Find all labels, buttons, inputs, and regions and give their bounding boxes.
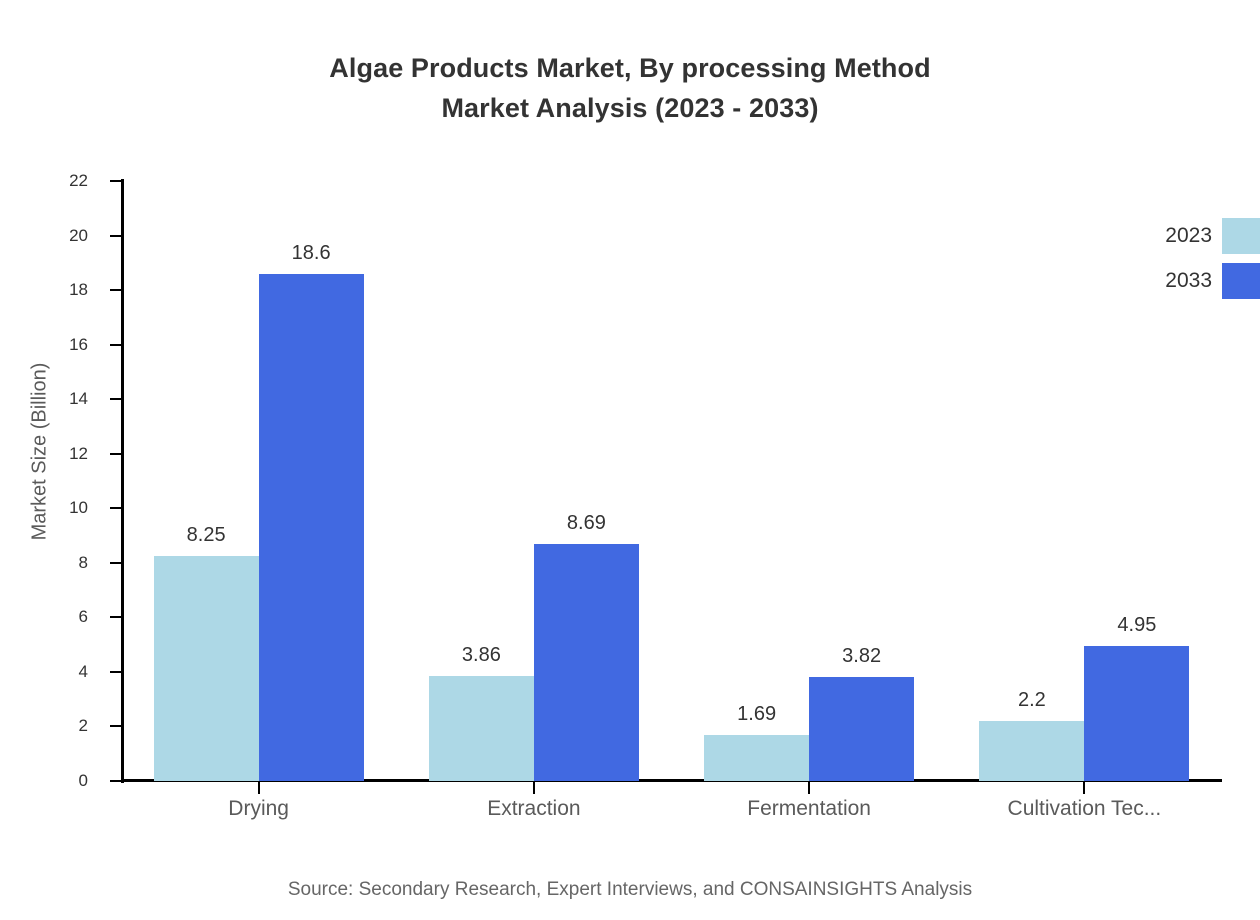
x-axis-category-label: Cultivation Tec...: [934, 796, 1234, 821]
y-axis-tick-label: 8: [28, 554, 88, 571]
y-axis-tick: [110, 289, 121, 291]
bar-value-label: 3.86: [421, 645, 541, 665]
y-axis-tick: [110, 671, 121, 673]
bar-2033-extraction[interactable]: [534, 544, 639, 781]
x-axis-tick: [808, 782, 810, 794]
bar-2033-cultivation-tec[interactable]: [1084, 646, 1189, 781]
y-axis-tick-label: 2: [28, 717, 88, 734]
chart-legend: 20232033: [1130, 210, 1260, 310]
y-axis-tick: [110, 453, 121, 455]
x-axis-tick: [533, 782, 535, 794]
bar-2023-cultivation-tec[interactable]: [979, 721, 1084, 781]
x-axis-tick: [1083, 782, 1085, 794]
bar-value-label: 3.82: [802, 646, 922, 666]
y-axis-tick-label: 4: [28, 663, 88, 680]
y-axis-tick: [110, 562, 121, 564]
y-axis-tick-label: 16: [28, 336, 88, 353]
bar-value-label: 4.95: [1077, 615, 1197, 635]
bar-2033-drying[interactable]: [259, 274, 364, 781]
y-axis-tick-label: 20: [28, 227, 88, 244]
y-axis-tick-label: 0: [28, 772, 88, 789]
bar-value-label: 8.25: [146, 525, 266, 545]
bar-value-label: 8.69: [526, 513, 646, 533]
x-axis-tick: [258, 782, 260, 794]
legend-item-2023[interactable]: 2023: [1130, 218, 1260, 254]
bar-2023-fermentation[interactable]: [704, 735, 809, 781]
y-axis-tick: [110, 398, 121, 400]
y-axis-tick-label: 10: [28, 499, 88, 516]
x-axis-category-label: Fermentation: [659, 796, 959, 821]
bar-2023-extraction[interactable]: [429, 676, 534, 781]
source-note: Source: Secondary Research, Expert Inter…: [0, 879, 1260, 901]
chart-title-line-2: Market Analysis (2023 - 2033): [0, 88, 1260, 128]
y-axis-tick-label: 6: [28, 608, 88, 625]
bar-2023-drying[interactable]: [154, 556, 259, 781]
bar-value-label: 18.6: [251, 243, 371, 263]
legend-label-2023: 2023: [1130, 225, 1212, 246]
y-axis-tick: [110, 344, 121, 346]
y-axis-tick: [110, 725, 121, 727]
y-axis-tick: [110, 616, 121, 618]
y-axis-tick-label: 18: [28, 281, 88, 298]
y-axis-tick: [110, 780, 121, 782]
legend-swatch-2033: [1222, 263, 1260, 299]
page-title: Algae Products Market, By processing Met…: [0, 48, 1260, 128]
x-axis-category-label: Drying: [109, 796, 409, 821]
legend-swatch-2023: [1222, 218, 1260, 254]
bar-value-label: 1.69: [697, 704, 817, 724]
y-axis-tick-label: 12: [28, 445, 88, 462]
y-axis-tick-label: 14: [28, 390, 88, 407]
y-axis-tick: [110, 180, 121, 182]
bar-value-label: 2.2: [972, 690, 1092, 710]
bar-2033-fermentation[interactable]: [809, 677, 914, 781]
y-axis-tick: [110, 507, 121, 509]
y-axis-tick-label: 22: [28, 172, 88, 189]
x-axis-category-label: Extraction: [384, 796, 684, 821]
y-axis-tick: [110, 235, 121, 237]
legend-item-2033[interactable]: 2033: [1130, 263, 1260, 299]
chart-title-line-1: Algae Products Market, By processing Met…: [0, 48, 1260, 88]
legend-label-2033: 2033: [1130, 270, 1212, 291]
